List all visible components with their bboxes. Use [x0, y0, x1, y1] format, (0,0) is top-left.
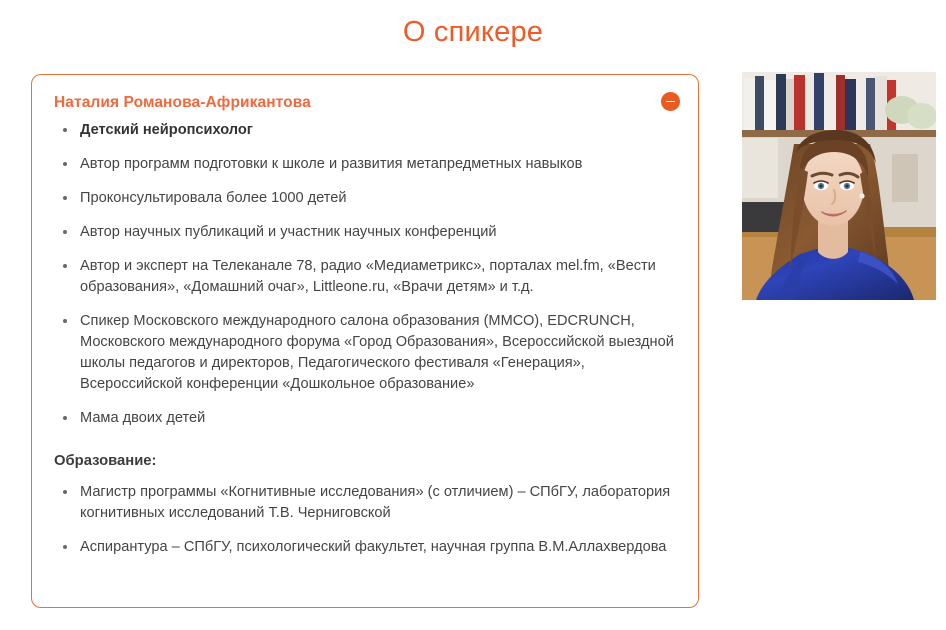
list-item: Проконсультировала более 1000 детей [54, 188, 676, 209]
list-item: Магистр программы «Когнитивные исследова… [54, 482, 676, 524]
list-item: Аспирантура – СПбГУ, психологический фак… [54, 537, 676, 558]
speaker-photo [742, 72, 936, 300]
list-item: Автор и эксперт на Телеканале 78, радио … [54, 256, 676, 298]
education-list: Магистр программы «Когнитивные исследова… [54, 482, 676, 558]
accordion-header[interactable]: Наталия Романова-Африкантова [32, 75, 698, 120]
page-title: О спикере [0, 14, 946, 50]
list-item: Автор научных публикаций и участник науч… [54, 222, 676, 243]
minus-icon [666, 101, 675, 103]
list-item: Детский нейропсихолог [54, 120, 676, 141]
list-item: Мама двоих детей [54, 408, 676, 429]
education-heading: Образование: [54, 451, 676, 471]
speaker-portrait-image [742, 72, 936, 300]
speaker-name: Наталия Романова-Африкантова [54, 92, 652, 114]
list-item: Спикер Московского международного салона… [54, 311, 676, 395]
list-item: Автор программ подготовки к школе и разв… [54, 154, 676, 175]
speaker-credentials-list: Детский нейропсихолог Автор программ под… [54, 120, 676, 429]
speaker-accordion-card: Наталия Романова-Африкантова Детский ней… [31, 74, 699, 608]
accordion-content: Детский нейропсихолог Автор программ под… [32, 120, 698, 578]
collapse-toggle-button[interactable] [661, 92, 680, 111]
